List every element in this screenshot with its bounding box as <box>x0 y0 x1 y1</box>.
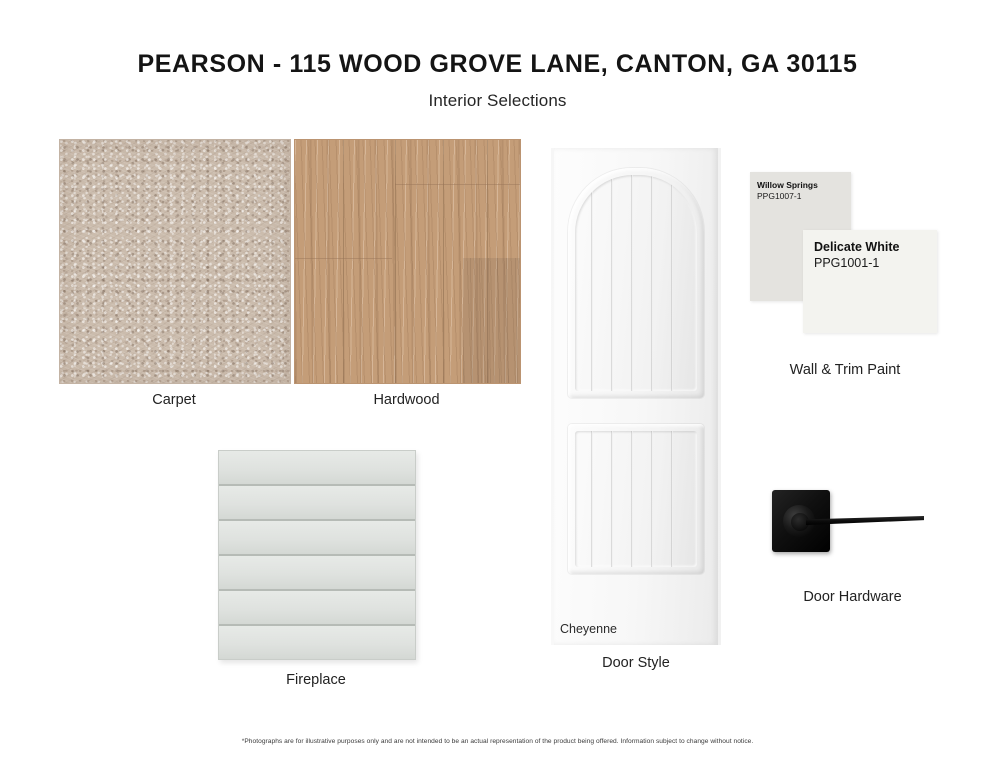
door-upper-panel-inner <box>575 175 697 391</box>
door-slab: Cheyenne <box>554 148 718 645</box>
fireplace-swatch-image <box>218 450 416 660</box>
paint-swatch-name: Delicate White <box>814 240 899 254</box>
carpet-swatch-image <box>59 139 291 384</box>
door-hardware-image <box>770 488 930 563</box>
paint-swatch-code: PPG1007-1 <box>757 191 801 201</box>
wall-trim-paint-swatches: Willow Springs PPG1007-1 Delicate White … <box>750 172 940 337</box>
door-lower-panel-inner <box>575 431 697 567</box>
hardwood-caption: Hardwood <box>294 392 519 408</box>
fireplace-caption: Fireplace <box>218 672 414 688</box>
wall-trim-paint-caption: Wall & Trim Paint <box>750 362 940 378</box>
door-upper-panel <box>568 168 704 398</box>
door-lower-panel <box>568 424 704 574</box>
paint-swatch-code: PPG1001-1 <box>814 256 879 270</box>
hardwood-swatch-image <box>294 139 521 384</box>
footer-disclaimer: *Photographs are for illustrative purpos… <box>0 738 995 745</box>
door-model-label: Cheyenne <box>560 622 617 636</box>
page-subtitle: Interior Selections <box>0 91 995 111</box>
document-header: PEARSON - 115 WOOD GROVE LANE, CANTON, G… <box>0 0 995 111</box>
door-hardware-caption: Door Hardware <box>770 589 935 605</box>
carpet-caption: Carpet <box>59 392 289 408</box>
door-style-caption: Door Style <box>551 655 721 671</box>
paint-swatch-name: Willow Springs <box>757 180 818 190</box>
paint-swatch-delicate-white: Delicate White PPG1001-1 <box>803 230 937 333</box>
door-style-image: Cheyenne <box>551 148 721 645</box>
page-title: PEARSON - 115 WOOD GROVE LANE, CANTON, G… <box>0 50 995 79</box>
